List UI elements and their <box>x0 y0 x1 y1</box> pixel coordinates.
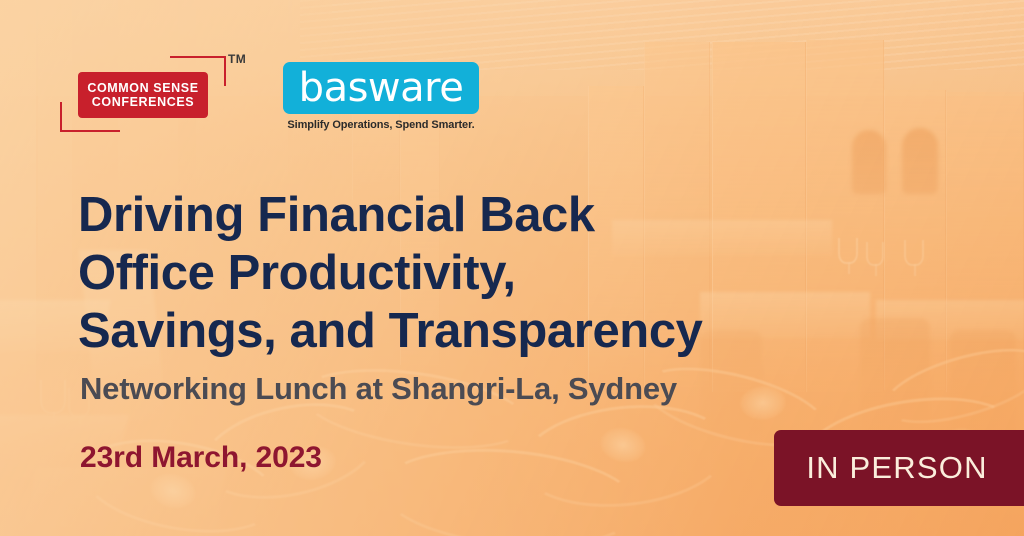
page-title: Driving Financial Back Office Productivi… <box>78 186 818 360</box>
event-date: 23rd March, 2023 <box>80 441 322 475</box>
banner-content: COMMON SENSE CONFERENCES TM basware Simp… <box>0 0 1024 536</box>
basware-logo-box: basware <box>283 62 479 114</box>
common-sense-conferences-logo[interactable]: COMMON SENSE CONFERENCES TM <box>62 52 248 144</box>
event-subtitle: Networking Lunch at Shangri-La, Sydney <box>80 371 677 407</box>
trademark-symbol: TM <box>228 52 246 66</box>
headline-line-3: Savings, and Transparency <box>78 302 818 360</box>
headline-line-2: Office Productivity, <box>78 244 818 302</box>
common-sense-logo-box: COMMON SENSE CONFERENCES <box>78 72 208 118</box>
common-sense-logo-line1: COMMON SENSE <box>87 81 198 95</box>
event-banner: COMMON SENSE CONFERENCES TM basware Simp… <box>0 0 1024 536</box>
basware-logo[interactable]: basware Simplify Operations, Spend Smart… <box>283 62 483 140</box>
headline-line-1: Driving Financial Back <box>78 186 818 244</box>
status-badge: IN PERSON <box>774 430 1024 506</box>
basware-wordmark: basware <box>299 68 464 108</box>
status-badge-label: IN PERSON <box>806 450 1003 486</box>
basware-tagline: Simplify Operations, Spend Smarter. <box>283 119 479 131</box>
common-sense-logo-line2: CONFERENCES <box>92 95 194 109</box>
